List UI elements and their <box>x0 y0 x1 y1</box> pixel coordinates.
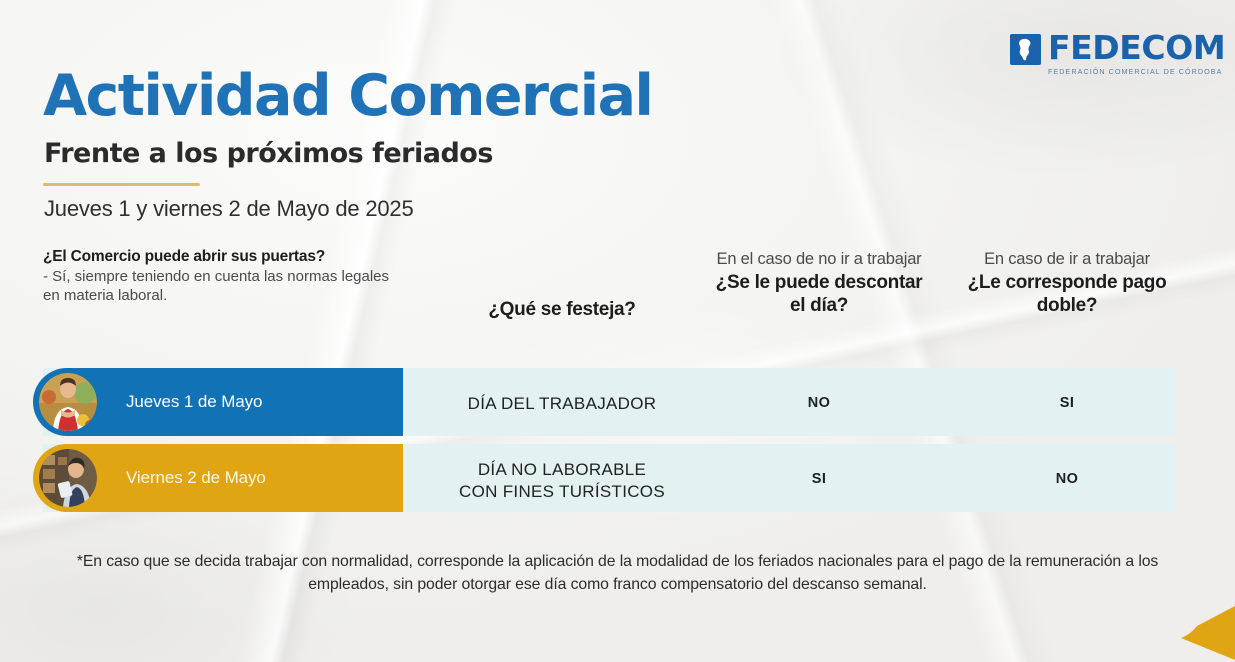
date-range-label: Jueves 1 y viernes 2 de Mayo de 2025 <box>44 196 413 222</box>
c2-question: ¿Qué se festeja? <box>403 299 721 322</box>
row-2-celebration-line-2: CON FINES TURÍSTICOS <box>403 481 721 503</box>
column-header-double-pay: En caso de ir a trabajar ¿Le corresponde… <box>952 248 1182 348</box>
c3-context: En el caso de no ir a trabajar <box>708 250 930 269</box>
column-header-celebration: ¿Qué se festeja? <box>403 248 721 348</box>
page-title: Actividad Comercial <box>43 68 652 125</box>
c4-context: En caso de ir a trabajar <box>952 250 1182 269</box>
c1-answer: - Sí, siempre teniendo en cuenta las nor… <box>43 268 403 306</box>
column-header-open-doors: ¿El Comercio puede abrir sus puertas? - … <box>43 248 403 348</box>
row-2-double-pay-answer: NO <box>952 471 1182 487</box>
c3-question: ¿Se le puede descontar el día? <box>708 272 930 318</box>
fedecom-logo: FEDECOM FEDERACIÓN COMERCIAL DE CÓRDOBA <box>1010 31 1225 76</box>
column-header-discount: En el caso de no ir a trabajar ¿Se le pu… <box>708 248 930 348</box>
avatar <box>39 449 97 507</box>
page-subtitle: Frente a los próximos feriados <box>44 138 493 169</box>
row-2-day-label: Viernes 2 de Mayo <box>126 468 266 488</box>
cordoba-province-outline-icon <box>1010 34 1041 65</box>
arrow-decoration-icon <box>1173 604 1235 662</box>
row-1-celebration: DÍA DEL TRABAJADOR <box>403 393 721 415</box>
c1-question: ¿El Comercio puede abrir sus puertas? <box>43 248 403 266</box>
row-1-discount-answer: NO <box>708 395 930 411</box>
logo-tagline: FEDERACIÓN COMERCIAL DE CÓRDOBA <box>1048 67 1225 76</box>
c4-question: ¿Le corresponde pago doble? <box>952 272 1182 318</box>
avatar <box>39 373 97 431</box>
row-2-celebration-line-1: DÍA NO LABORABLE <box>403 459 721 481</box>
row-2-day-pill: Viernes 2 de Mayo <box>33 444 403 512</box>
row-1-double-pay-answer: SI <box>952 395 1182 411</box>
row-2-celebration: DÍA NO LABORABLE CON FINES TURÍSTICOS <box>403 459 721 503</box>
row-2-discount-answer: SI <box>708 471 930 487</box>
gold-divider <box>43 183 200 186</box>
logo-wordmark: FEDECOM <box>1048 31 1225 64</box>
footnote-text: En caso que se decida trabajar con norma… <box>83 553 1158 593</box>
infographic-canvas: FEDECOM FEDERACIÓN COMERCIAL DE CÓRDOBA … <box>0 0 1235 662</box>
row-1-day-pill: Jueves 1 de Mayo <box>33 368 403 436</box>
row-1-day-label: Jueves 1 de Mayo <box>126 392 262 412</box>
footnote: *En caso que se decida trabajar con norm… <box>55 550 1180 597</box>
